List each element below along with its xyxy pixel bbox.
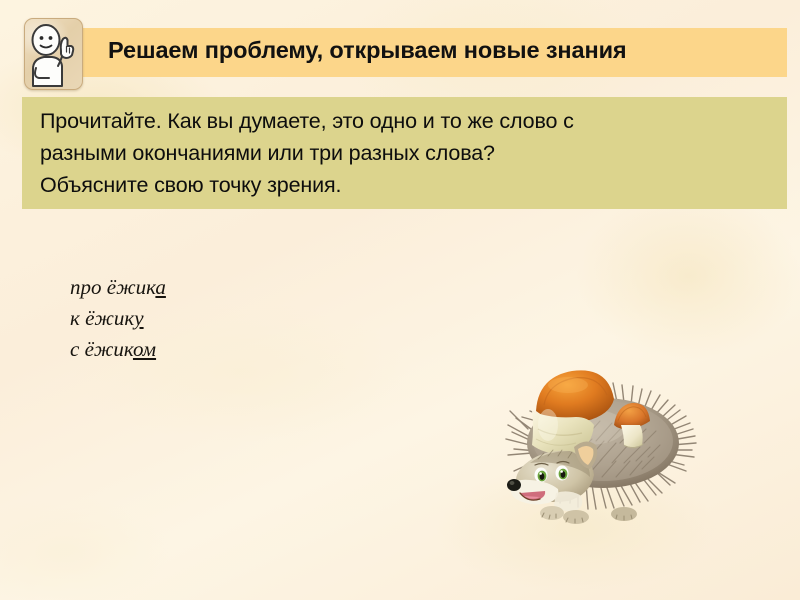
list-item: к ёжику — [70, 303, 166, 334]
word-ending: а — [155, 275, 166, 299]
word-stem: с ёжик — [70, 337, 133, 361]
word-stem: к ёжик — [70, 306, 134, 330]
list-item: про ёжика — [70, 272, 166, 303]
thinking-person-icon — [24, 18, 83, 90]
word-stem: про ёжик — [70, 275, 155, 299]
prompt-line-3: Объясните свою точку зрения. — [40, 169, 780, 201]
word-list: про ёжика к ёжику с ёжиком — [70, 272, 166, 365]
page-title: Решаем проблему, открываем новые знания — [108, 37, 778, 64]
prompt-box: Прочитайте. Как вы думаете, это одно и т… — [22, 97, 787, 209]
prompt-line-2: разными окончаниями или три разных слова… — [40, 137, 780, 169]
prompt-line-1: Прочитайте. Как вы думаете, это одно и т… — [40, 105, 780, 137]
prompt-text: Прочитайте. Как вы думаете, это одно и т… — [40, 105, 780, 201]
word-ending: у — [134, 306, 143, 330]
hedgehog-with-mushrooms-illustration — [490, 333, 780, 533]
list-item: с ёжиком — [70, 334, 166, 365]
slide-canvas: Решаем проблему, открываем новые знания … — [0, 0, 800, 600]
word-ending: ом — [133, 337, 156, 361]
